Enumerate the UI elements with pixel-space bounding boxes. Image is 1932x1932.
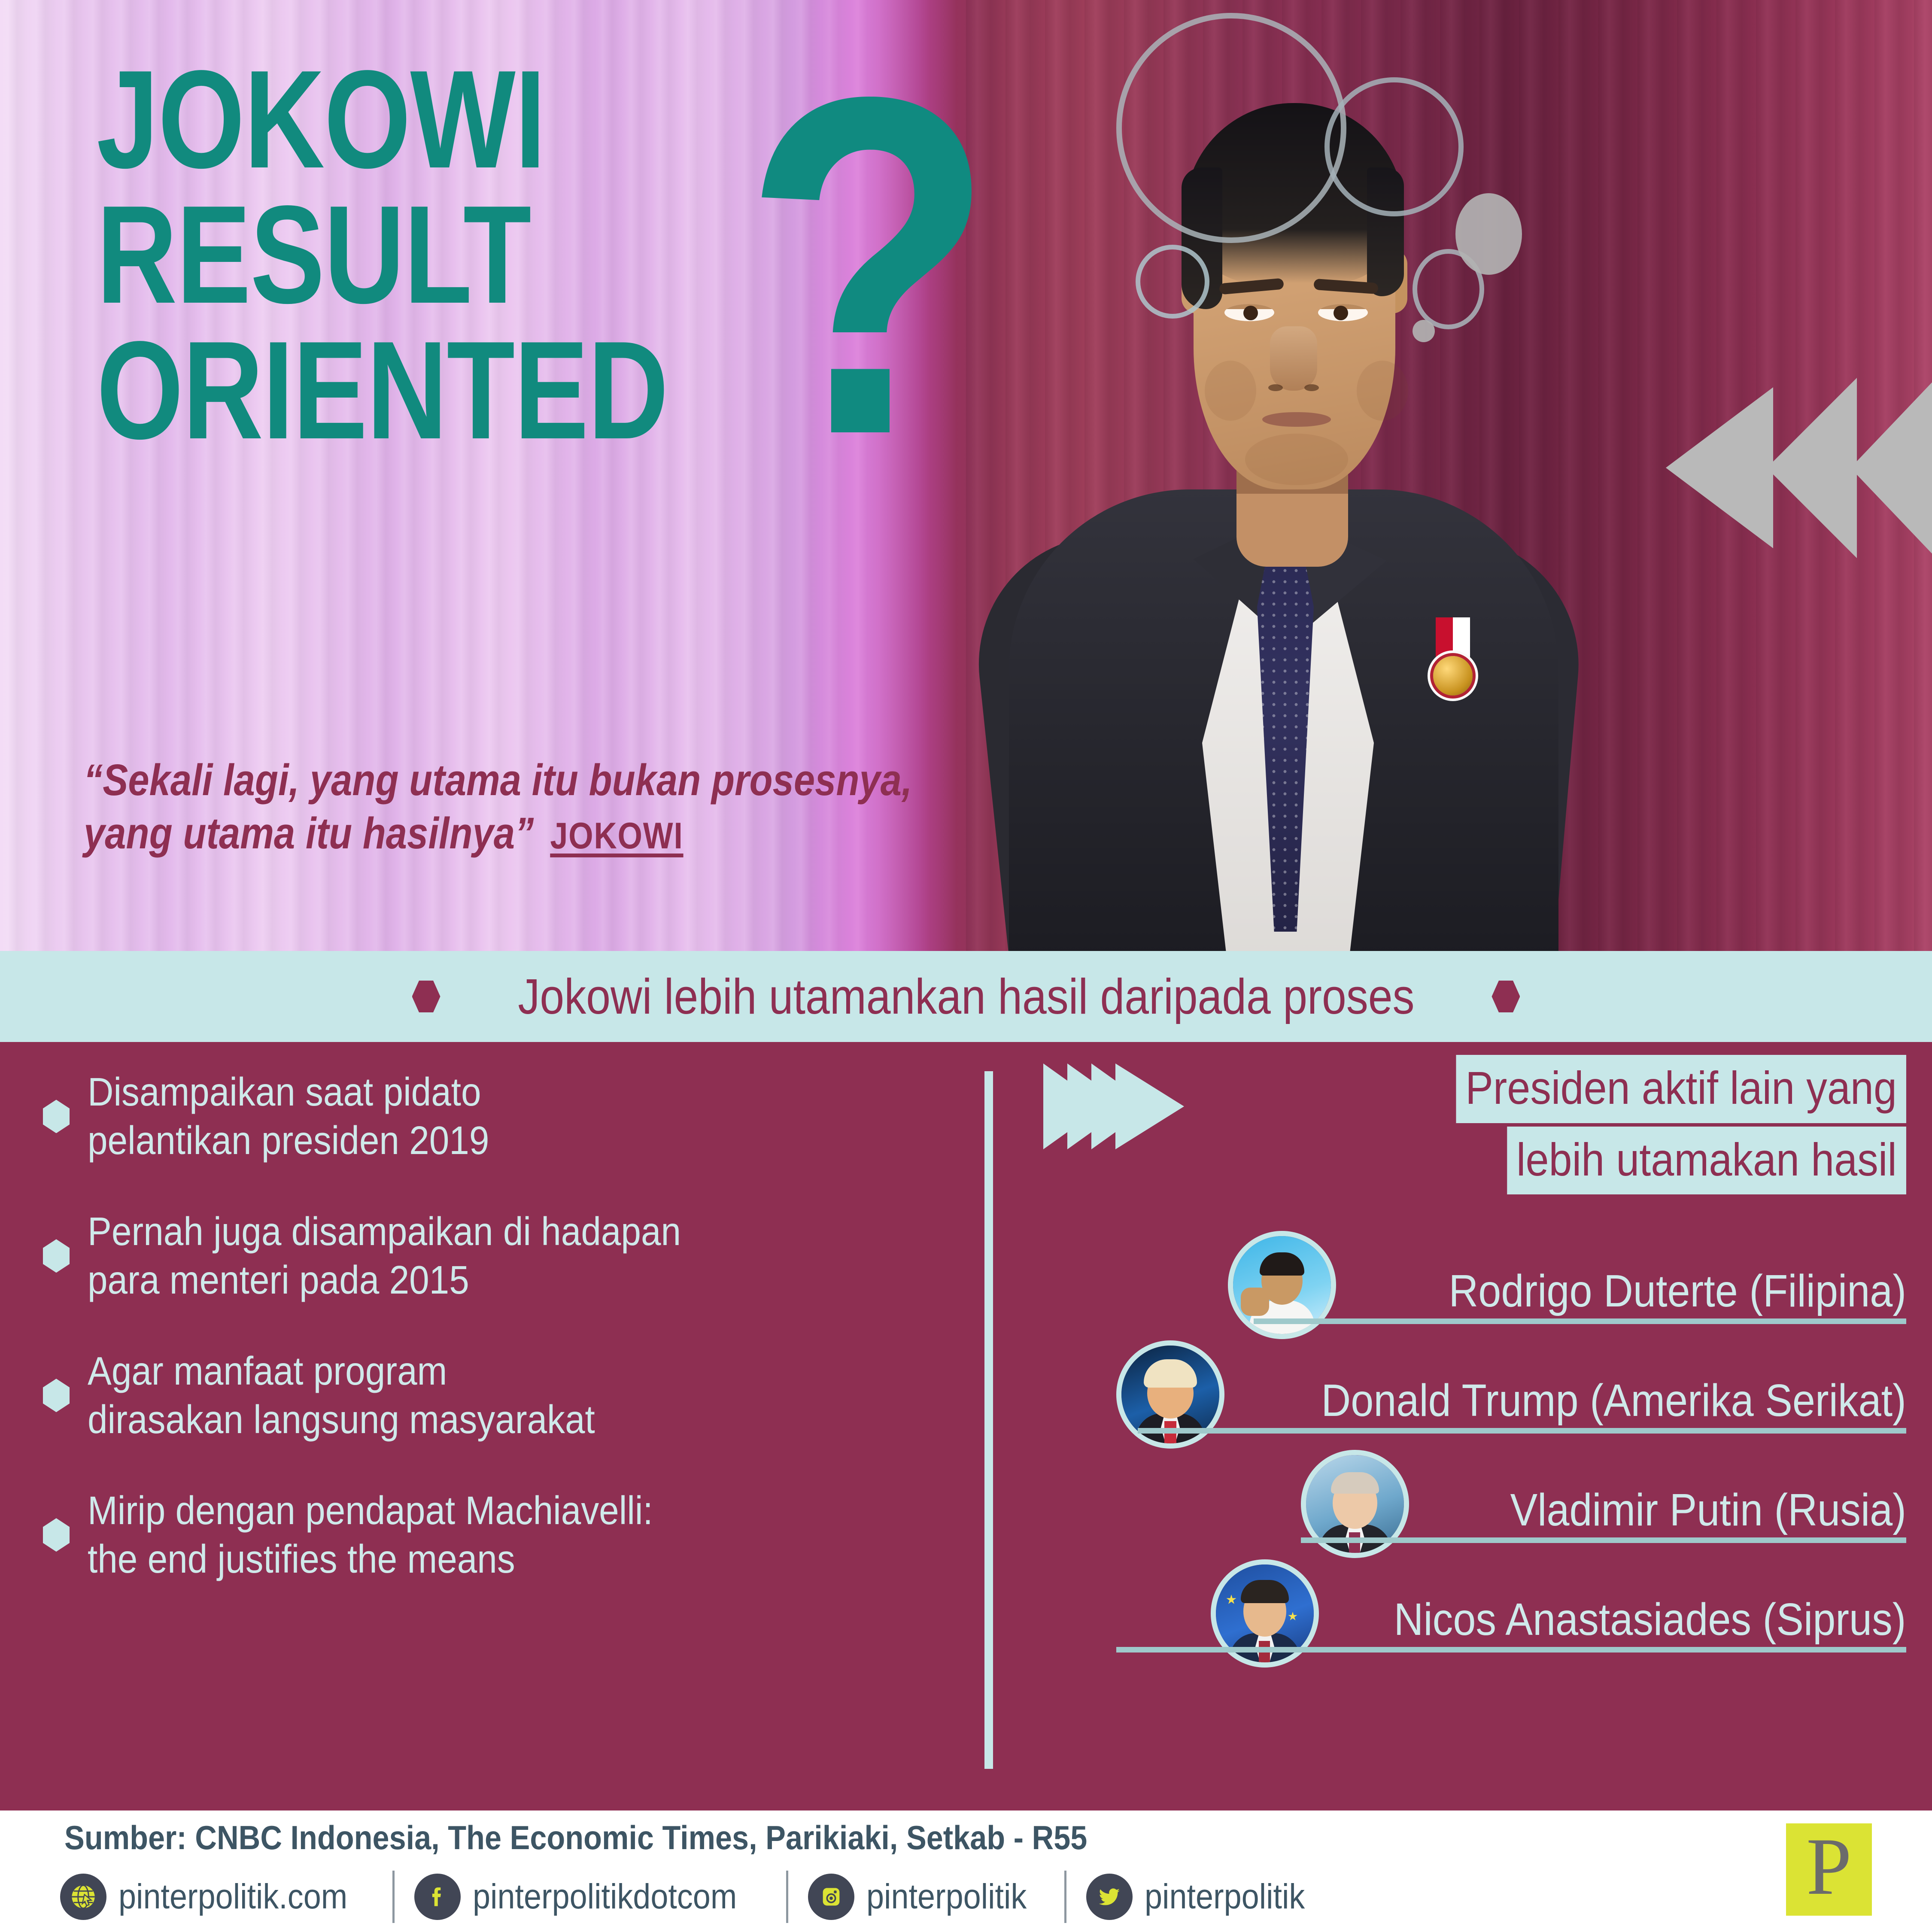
bullet-text: Disampaikan saat pidato pelantikan presi… <box>88 1068 489 1165</box>
portrait-chin <box>1245 434 1348 485</box>
decor-circle-small <box>1136 245 1209 319</box>
underline-rule <box>1254 1318 1906 1324</box>
decor-circle-large <box>1116 13 1346 243</box>
portrait-nostril-right <box>1304 384 1319 391</box>
hero-chevron-arrows <box>1666 378 1932 558</box>
social-link-twitter[interactable]: pinterpolitik <box>1086 1874 1323 1920</box>
page-title: JOKOWI RESULT ORIENTED <box>97 52 715 458</box>
portrait-cheek-left <box>1205 361 1256 421</box>
social-link-website[interactable]: pinterpolitik.com <box>60 1874 373 1920</box>
facebook-icon <box>414 1874 461 1920</box>
list-item: Pernah juga disampaikan di hadapan para … <box>43 1207 953 1305</box>
bullet-text: Mirip dengan pendapat Machiavelli: the e… <box>88 1486 653 1584</box>
pinterpolitik-logo: P <box>1786 1823 1872 1916</box>
president-name: Nicos Anastasiades (Siprus) <box>1394 1597 1906 1642</box>
quote-line-1: “Sekali lagi, yang utama itu bukan prose… <box>84 753 841 807</box>
portrait-nose <box>1270 326 1317 391</box>
divider <box>1064 1871 1066 1923</box>
logo-letter: P <box>1806 1826 1852 1908</box>
portrait-eye-left <box>1224 304 1274 321</box>
quote-block: “Sekali lagi, yang utama itu bukan prose… <box>84 753 841 860</box>
president-name: Rodrigo Duterte (Filipina) <box>1449 1268 1906 1314</box>
question-mark-graphic: ? <box>743 26 995 507</box>
list-item: Disampaikan saat pidato pelantikan presi… <box>43 1068 953 1165</box>
globe-icon <box>60 1874 106 1920</box>
instagram-icon <box>808 1874 854 1920</box>
underline-rule <box>1138 1428 1906 1434</box>
social-label: pinterpolitikdotcom <box>473 1877 737 1917</box>
portrait-medal-ribbon <box>1436 617 1470 660</box>
underline-rule <box>1301 1537 1906 1543</box>
chevron-3 <box>1850 378 1932 558</box>
divider <box>786 1871 788 1923</box>
section-banner: Jokowi lebih utamankan hasil daripada pr… <box>0 951 1932 1042</box>
portrait-eye-right <box>1318 304 1368 321</box>
hexagon-marker-left-icon <box>412 981 440 1012</box>
list-item: Donald Trump (Amerika Serikat) <box>1043 1340 1906 1450</box>
headline-line-1: JOKOWI <box>97 52 715 187</box>
twitter-icon <box>1086 1874 1133 1920</box>
chevron-2 <box>1767 378 1857 558</box>
presidents-list: Rodrigo Duterte (Filipina) Donald Trump … <box>1043 1231 1906 1669</box>
portrait-mouth <box>1262 412 1331 427</box>
source-line: Sumber: CNBC Indonesia, The Economic Tim… <box>64 1818 1087 1857</box>
headline-line-3: ORIENTED <box>97 322 715 458</box>
infographic-page: JOKOWI RESULT ORIENTED ? “Sekali lagi, y… <box>0 0 1932 1932</box>
underline-rule <box>1116 1647 1906 1653</box>
bullet-list: Disampaikan saat pidato pelantikan presi… <box>43 1068 953 1626</box>
content-section: Disampaikan saat pidato pelantikan presi… <box>0 1042 1932 1810</box>
hexagon-bullet-icon <box>43 1239 70 1273</box>
presidents-heading-line-1: Presiden aktif lain yang <box>1456 1055 1906 1123</box>
headline-line-2: RESULT <box>97 187 715 322</box>
quote-line-2-wrapper: yang utama itu hasilnya”JOKOWI <box>84 807 841 860</box>
bullet-text: Pernah juga disampaikan di hadapan para … <box>88 1207 681 1305</box>
social-link-facebook[interactable]: pinterpolitikdotcom <box>414 1874 766 1920</box>
bullet-text: Agar manfaat program dirasakan langsung … <box>88 1347 595 1444</box>
footer: Sumber: CNBC Indonesia, The Economic Tim… <box>0 1810 1932 1932</box>
portrait-nostril-left <box>1268 384 1283 391</box>
quote-line-2: yang utama itu hasilnya” <box>84 808 534 858</box>
social-link-instagram[interactable]: pinterpolitik <box>808 1874 1045 1920</box>
hero-section: JOKOWI RESULT ORIENTED ? “Sekali lagi, y… <box>0 0 1932 951</box>
list-item: Rodrigo Duterte (Filipina) <box>1043 1231 1906 1340</box>
social-label: pinterpolitik <box>1145 1877 1305 1917</box>
presidents-panel: Presiden aktif lain yang lebih utamakan … <box>1043 1059 1906 1149</box>
hexagon-bullet-icon <box>43 1100 70 1133</box>
portrait-medal <box>1433 656 1473 696</box>
president-name: Vladimir Putin (Rusia) <box>1510 1487 1906 1533</box>
list-item: Mirip dengan pendapat Machiavelli: the e… <box>43 1486 953 1584</box>
hexagon-bullet-icon <box>43 1518 70 1552</box>
triple-arrow-icon <box>1043 1063 1176 1149</box>
column-divider <box>984 1071 993 1769</box>
decor-circle-medium <box>1324 77 1464 216</box>
presidents-heading: Presiden aktif lain yang lebih utamakan … <box>1176 1055 1906 1194</box>
chevron-1 <box>1666 387 1773 548</box>
list-item: Vladimir Putin (Rusia) <box>1043 1450 1906 1559</box>
portrait-cheek-right <box>1357 361 1408 421</box>
hexagon-marker-right-icon <box>1492 981 1520 1012</box>
social-label: pinterpolitik <box>866 1877 1027 1917</box>
banner-text: Jokowi lebih utamankan hasil daripada pr… <box>518 968 1414 1025</box>
presidents-heading-line-2: lebih utamakan hasil <box>1507 1127 1906 1195</box>
divider <box>392 1871 395 1923</box>
decor-dot <box>1413 320 1435 342</box>
list-item: Agar manfaat program dirasakan langsung … <box>43 1347 953 1444</box>
social-label: pinterpolitik.com <box>118 1877 347 1917</box>
social-links: pinterpolitik.com pinterpolitikdotcom <box>60 1871 1323 1923</box>
hexagon-bullet-icon <box>43 1379 70 1412</box>
president-name: Donald Trump (Amerika Serikat) <box>1321 1378 1906 1423</box>
decor-circle-filled <box>1455 193 1522 275</box>
list-item: Nicos Anastasiades (Siprus) <box>1043 1559 1906 1669</box>
quote-attribution: JOKOWI <box>550 815 683 857</box>
